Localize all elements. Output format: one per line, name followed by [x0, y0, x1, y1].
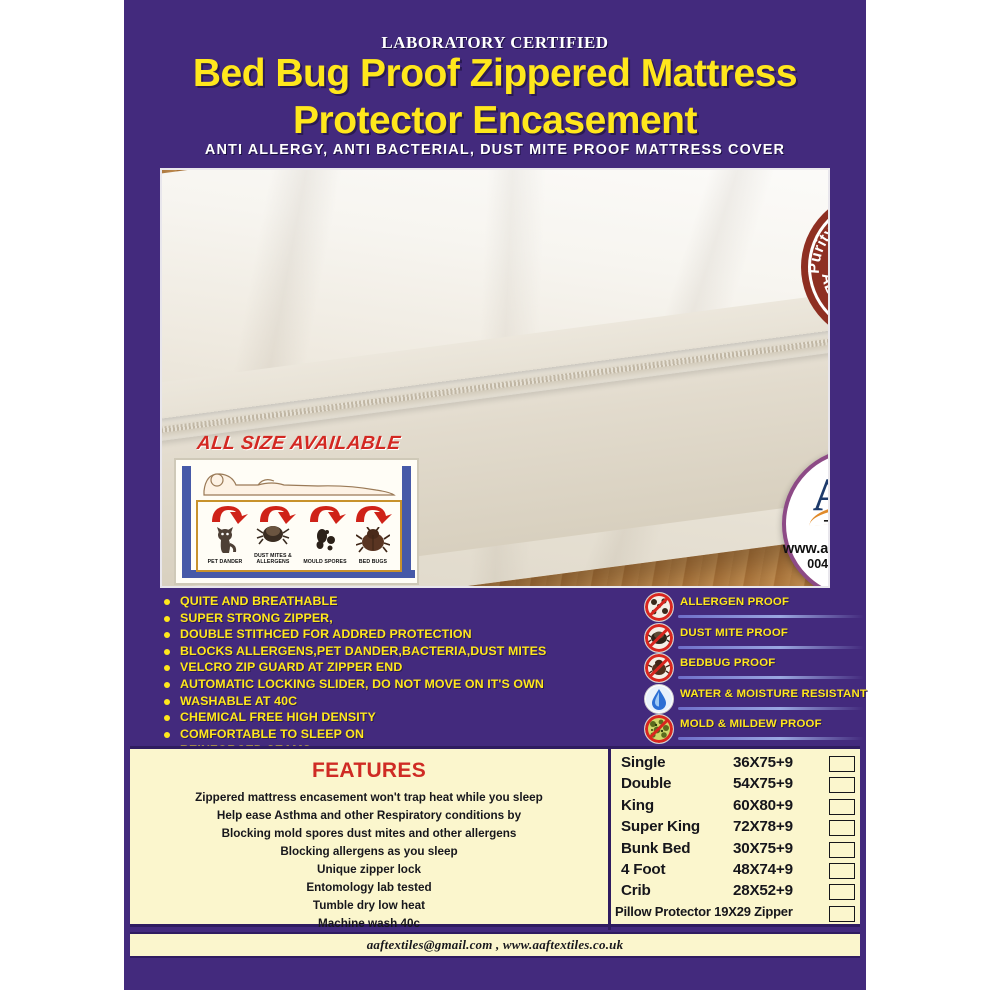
protection-diagram: PET DANDER DUST MITES & ALLERGENS: [174, 458, 419, 585]
size-checkbox[interactable]: [829, 820, 855, 836]
features-line: Blocking allergens as you sleep: [130, 843, 608, 861]
size-row-super-king[interactable]: Super King 72X78+9: [615, 817, 857, 838]
badge-label: MOLD & MILDEW PROOF: [680, 718, 822, 730]
size-dimensions: 28X52+9: [733, 882, 793, 899]
features-line: Entomology lab tested: [130, 879, 608, 897]
pest-pet-dander: PET DANDER: [202, 525, 248, 566]
all-size-available-heading: ALL SIZE AVAILABLE: [196, 433, 402, 455]
panel-divider: [608, 749, 611, 930]
badge-label: ALLERGEN PROOF: [680, 596, 789, 608]
size-name: Super King: [621, 818, 700, 835]
size-checkbox[interactable]: [829, 777, 855, 793]
badge-underline: [678, 615, 864, 618]
size-checkbox[interactable]: [829, 884, 855, 900]
dust-mite-icon: [256, 521, 290, 549]
size-name: Crib: [621, 882, 651, 899]
badge-label: BEDBUG PROOF: [680, 657, 775, 669]
size-selection-table: Single 36X75+9 Double 54X75+9 King 60X80…: [615, 753, 857, 924]
size-row-single[interactable]: Single 36X75+9: [615, 753, 857, 774]
pest-dust-mites: DUST MITES & ALLERGENS: [250, 521, 296, 566]
allergen-no-icon: [644, 592, 674, 622]
badge-underline: [678, 737, 864, 740]
dust-mite-no-icon: [644, 623, 674, 653]
size-row-bunk-bed[interactable]: Bunk Bed 30X75+9: [615, 839, 857, 860]
pest-label: DUST MITES & ALLERGENS: [250, 554, 296, 566]
lower-info-panel: FEATURES Zippered mattress encasement wo…: [130, 746, 860, 927]
sleeping-person-icon: [198, 465, 398, 499]
product-subtitle: ANTI ALLERGY, ANTI BACTERIAL, DUST MITE …: [124, 142, 866, 158]
bullet-item: SUPER STRONG ZIPPER,: [160, 610, 660, 627]
size-dimensions: 36X75+9: [733, 754, 793, 771]
features-line: Help ease Asthma and other Respiratory c…: [130, 807, 608, 825]
size-name: Pillow Protector 19X29 Zipper: [615, 904, 793, 919]
size-checkbox[interactable]: [829, 906, 855, 922]
badge-bedbug-proof: BEDBUG PROOF: [644, 653, 864, 684]
bullet-item: DOUBLE STITHCED FOR ADDRED PROTECTION: [160, 626, 660, 643]
size-dimensions: 48X74+9: [733, 861, 793, 878]
contact-footer: aaftextiles@gmail.com , www.aaftextiles.…: [130, 932, 860, 958]
seal-inner-circle: [828, 219, 830, 315]
size-dimensions: 60X80+9: [733, 797, 793, 814]
bullet-item: WASHABLE AT 40C: [160, 693, 660, 710]
badge-underline: [678, 707, 864, 710]
size-checkbox[interactable]: [829, 756, 855, 772]
pest-mould-spores: MOULD SPORES: [302, 527, 348, 566]
size-dimensions: 72X78+9: [733, 818, 793, 835]
diagram-barrier-box: PET DANDER DUST MITES & ALLERGENS: [196, 500, 402, 572]
badge-underline: [678, 646, 864, 649]
bedbug-no-icon: [644, 653, 674, 683]
size-row-crib[interactable]: Crib 28X52+9: [615, 881, 857, 902]
laboratory-tested-seal: Purity, Safety & Quality LABORATORY TEST…: [801, 192, 830, 342]
protection-badge-list: ALLERGEN PROOF DUST MITE PROOF: [644, 592, 864, 745]
pest-bed-bugs: BED BUGS: [350, 527, 396, 566]
badge-allergen-proof: ALLERGEN PROOF: [644, 592, 864, 623]
product-title-line-2: Protector Encasement: [124, 99, 866, 143]
pest-label: BED BUGS: [350, 560, 396, 566]
size-name: Bunk Bed: [621, 840, 690, 857]
diagram-arrow-left: [182, 466, 191, 570]
features-heading: FEATURES: [130, 759, 608, 783]
diagram-blocked-arrows: [198, 502, 400, 526]
bullet-item: BLOCKS ALLERGENS,PET DANDER,BACTERIA,DUS…: [160, 643, 660, 660]
size-name: 4 Foot: [621, 861, 665, 878]
size-dimensions: 30X75+9: [733, 840, 793, 857]
size-name: King: [621, 797, 654, 814]
diagram-arrow-right: [402, 466, 411, 570]
product-poster: LABORATORY CERTIFIED Bed Bug Proof Zippe…: [124, 0, 866, 990]
seal-arc-text: Purity, Safety & Quality LABORATORY TEST…: [801, 192, 830, 342]
size-checkbox[interactable]: [829, 799, 855, 815]
features-line: Machine wash 40c: [130, 915, 608, 933]
pest-label: PET DANDER: [202, 560, 248, 566]
size-row-double[interactable]: Double 54X75+9: [615, 774, 857, 795]
poster-header: LABORATORY CERTIFIED Bed Bug Proof Zippe…: [124, 0, 866, 168]
contact-text: aaftextiles@gmail.com , www.aaftextiles.…: [367, 937, 624, 953]
logo-website: www.aaftextiles.co.uk: [783, 541, 830, 557]
features-line: Tumble dry low heat: [130, 897, 608, 915]
size-name: Double: [621, 775, 671, 792]
logo-phone: 0044-7460253005: [807, 557, 830, 571]
badge-label: DUST MITE PROOF: [680, 627, 788, 639]
badge-underline: [678, 676, 864, 679]
size-dimensions: 54X75+9: [733, 775, 793, 792]
water-drop-glyph: [645, 685, 673, 713]
size-checkbox[interactable]: [829, 863, 855, 879]
bullet-item: QUITE AND BREATHABLE: [160, 593, 660, 610]
logo-brand-text: AAF: [813, 473, 830, 518]
size-row-pillow-protector[interactable]: Pillow Protector 19X29 Zipper: [615, 903, 857, 924]
bullet-item: CHEMICAL FREE HIGH DENSITY: [160, 709, 660, 726]
badge-label: WATER & MOISTURE RESISTANT: [680, 688, 867, 700]
pest-label: MOULD SPORES: [302, 560, 348, 566]
size-row-king[interactable]: King 60X80+9: [615, 796, 857, 817]
badge-dust-mite-proof: DUST MITE PROOF: [644, 623, 864, 654]
size-checkbox[interactable]: [829, 842, 855, 858]
badge-water-resistant: WATER & MOISTURE RESISTANT: [644, 684, 864, 715]
features-line: Zippered mattress encasement won't trap …: [130, 789, 608, 807]
mould-spore-icon: [311, 527, 339, 555]
seal-top-text: Purity, Safety & Quality: [806, 202, 830, 274]
product-title-line-1: Bed Bug Proof Zippered Mattress: [124, 52, 866, 96]
bedbug-icon: [356, 527, 390, 555]
bullet-item: VELCRO ZIP GUARD AT ZIPPER END: [160, 659, 660, 676]
product-photo: Purity, Safety & Quality LABORATORY TEST…: [160, 168, 830, 588]
size-name: Single: [621, 754, 665, 771]
cat-icon: [210, 525, 240, 555]
features-text-list: Zippered mattress encasement won't trap …: [130, 789, 608, 933]
features-line: Blocking mold spores dust mites and othe…: [130, 825, 608, 843]
size-row-4-foot[interactable]: 4 Foot 48X74+9: [615, 860, 857, 881]
feature-bullet-list: QUITE AND BREATHABLE SUPER STRONG ZIPPER…: [160, 593, 660, 759]
water-drop-icon: [644, 684, 674, 714]
mold-no-icon: [644, 714, 674, 744]
bullet-item: AUTOMATIC LOCKING SLIDER, DO NOT MOVE ON…: [160, 676, 660, 693]
bullet-item: COMFORTABLE TO SLEEP ON: [160, 726, 660, 743]
laboratory-certified-text: LABORATORY CERTIFIED: [124, 33, 866, 53]
badge-mold-mildew-proof: MOLD & MILDEW PROOF: [644, 714, 864, 745]
bullet-items: QUITE AND BREATHABLE SUPER STRONG ZIPPER…: [160, 593, 660, 759]
features-line: Unique zipper lock: [130, 861, 608, 879]
